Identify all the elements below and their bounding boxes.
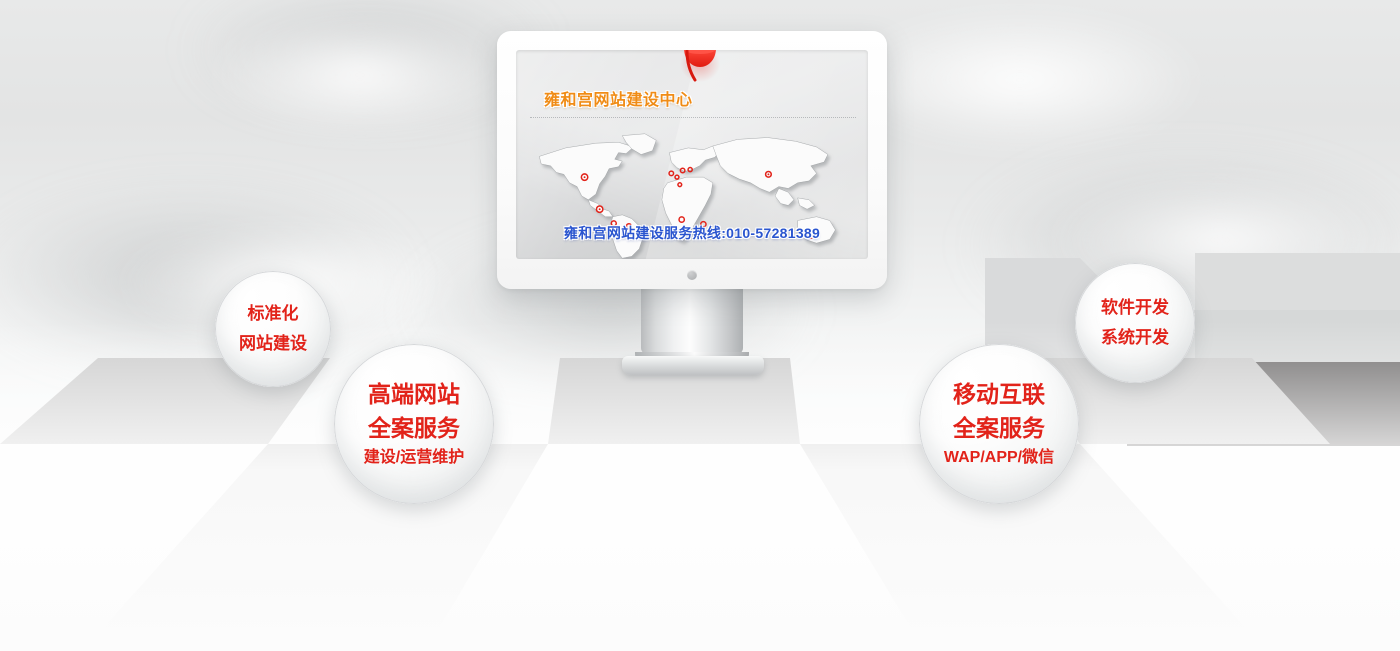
screen-divider [530,117,856,118]
screen-title: 雍和宫网站建设中心 [544,86,693,110]
monitor-stand-neck [641,289,743,362]
monitor-stand-base [622,356,764,375]
bubble-line-3: 建设/运营维护 [364,445,464,471]
bubble-line-1: 软件开发 [1101,293,1169,323]
service-bubble-software[interactable]: 软件开发 系统开发 [1075,263,1195,383]
bubble-line-2: 网站建设 [239,329,307,359]
bubble-line-2: 全案服务 [953,411,1045,445]
service-bubble-mobile[interactable]: 移动互联 全案服务 WAP/APP/微信 [919,344,1079,504]
hotline-text: 雍和宫网站建设服务热线:010-57281389 [564,223,820,243]
floor-tile [104,444,548,627]
power-indicator-icon [687,270,697,280]
bubble-line-1: 高端网站 [368,377,460,411]
banner-stage: 雍和宫网站建设中心 雍和宫网站建设服务热线:010-57281389 标准化 网… [0,0,1400,651]
bubble-line-3: WAP/APP/微信 [944,445,1054,471]
bubble-line-1: 移动互联 [953,377,1045,411]
monitor: 雍和宫网站建设中心 雍和宫网站建设服务热线:010-57281389 [497,31,887,289]
perspective-floor [0,352,1400,651]
service-bubble-highend[interactable]: 高端网站 全案服务 建设/运营维护 [334,344,494,504]
bubble-line-2: 系统开发 [1101,323,1169,353]
bubble-line-2: 全案服务 [368,411,460,445]
floor-tiles [0,352,1400,651]
service-bubble-standard[interactable]: 标准化 网站建设 [215,271,331,387]
monitor-screen: 雍和宫网站建设中心 雍和宫网站建设服务热线:010-57281389 [516,50,868,259]
bubble-line-1: 标准化 [248,299,299,329]
